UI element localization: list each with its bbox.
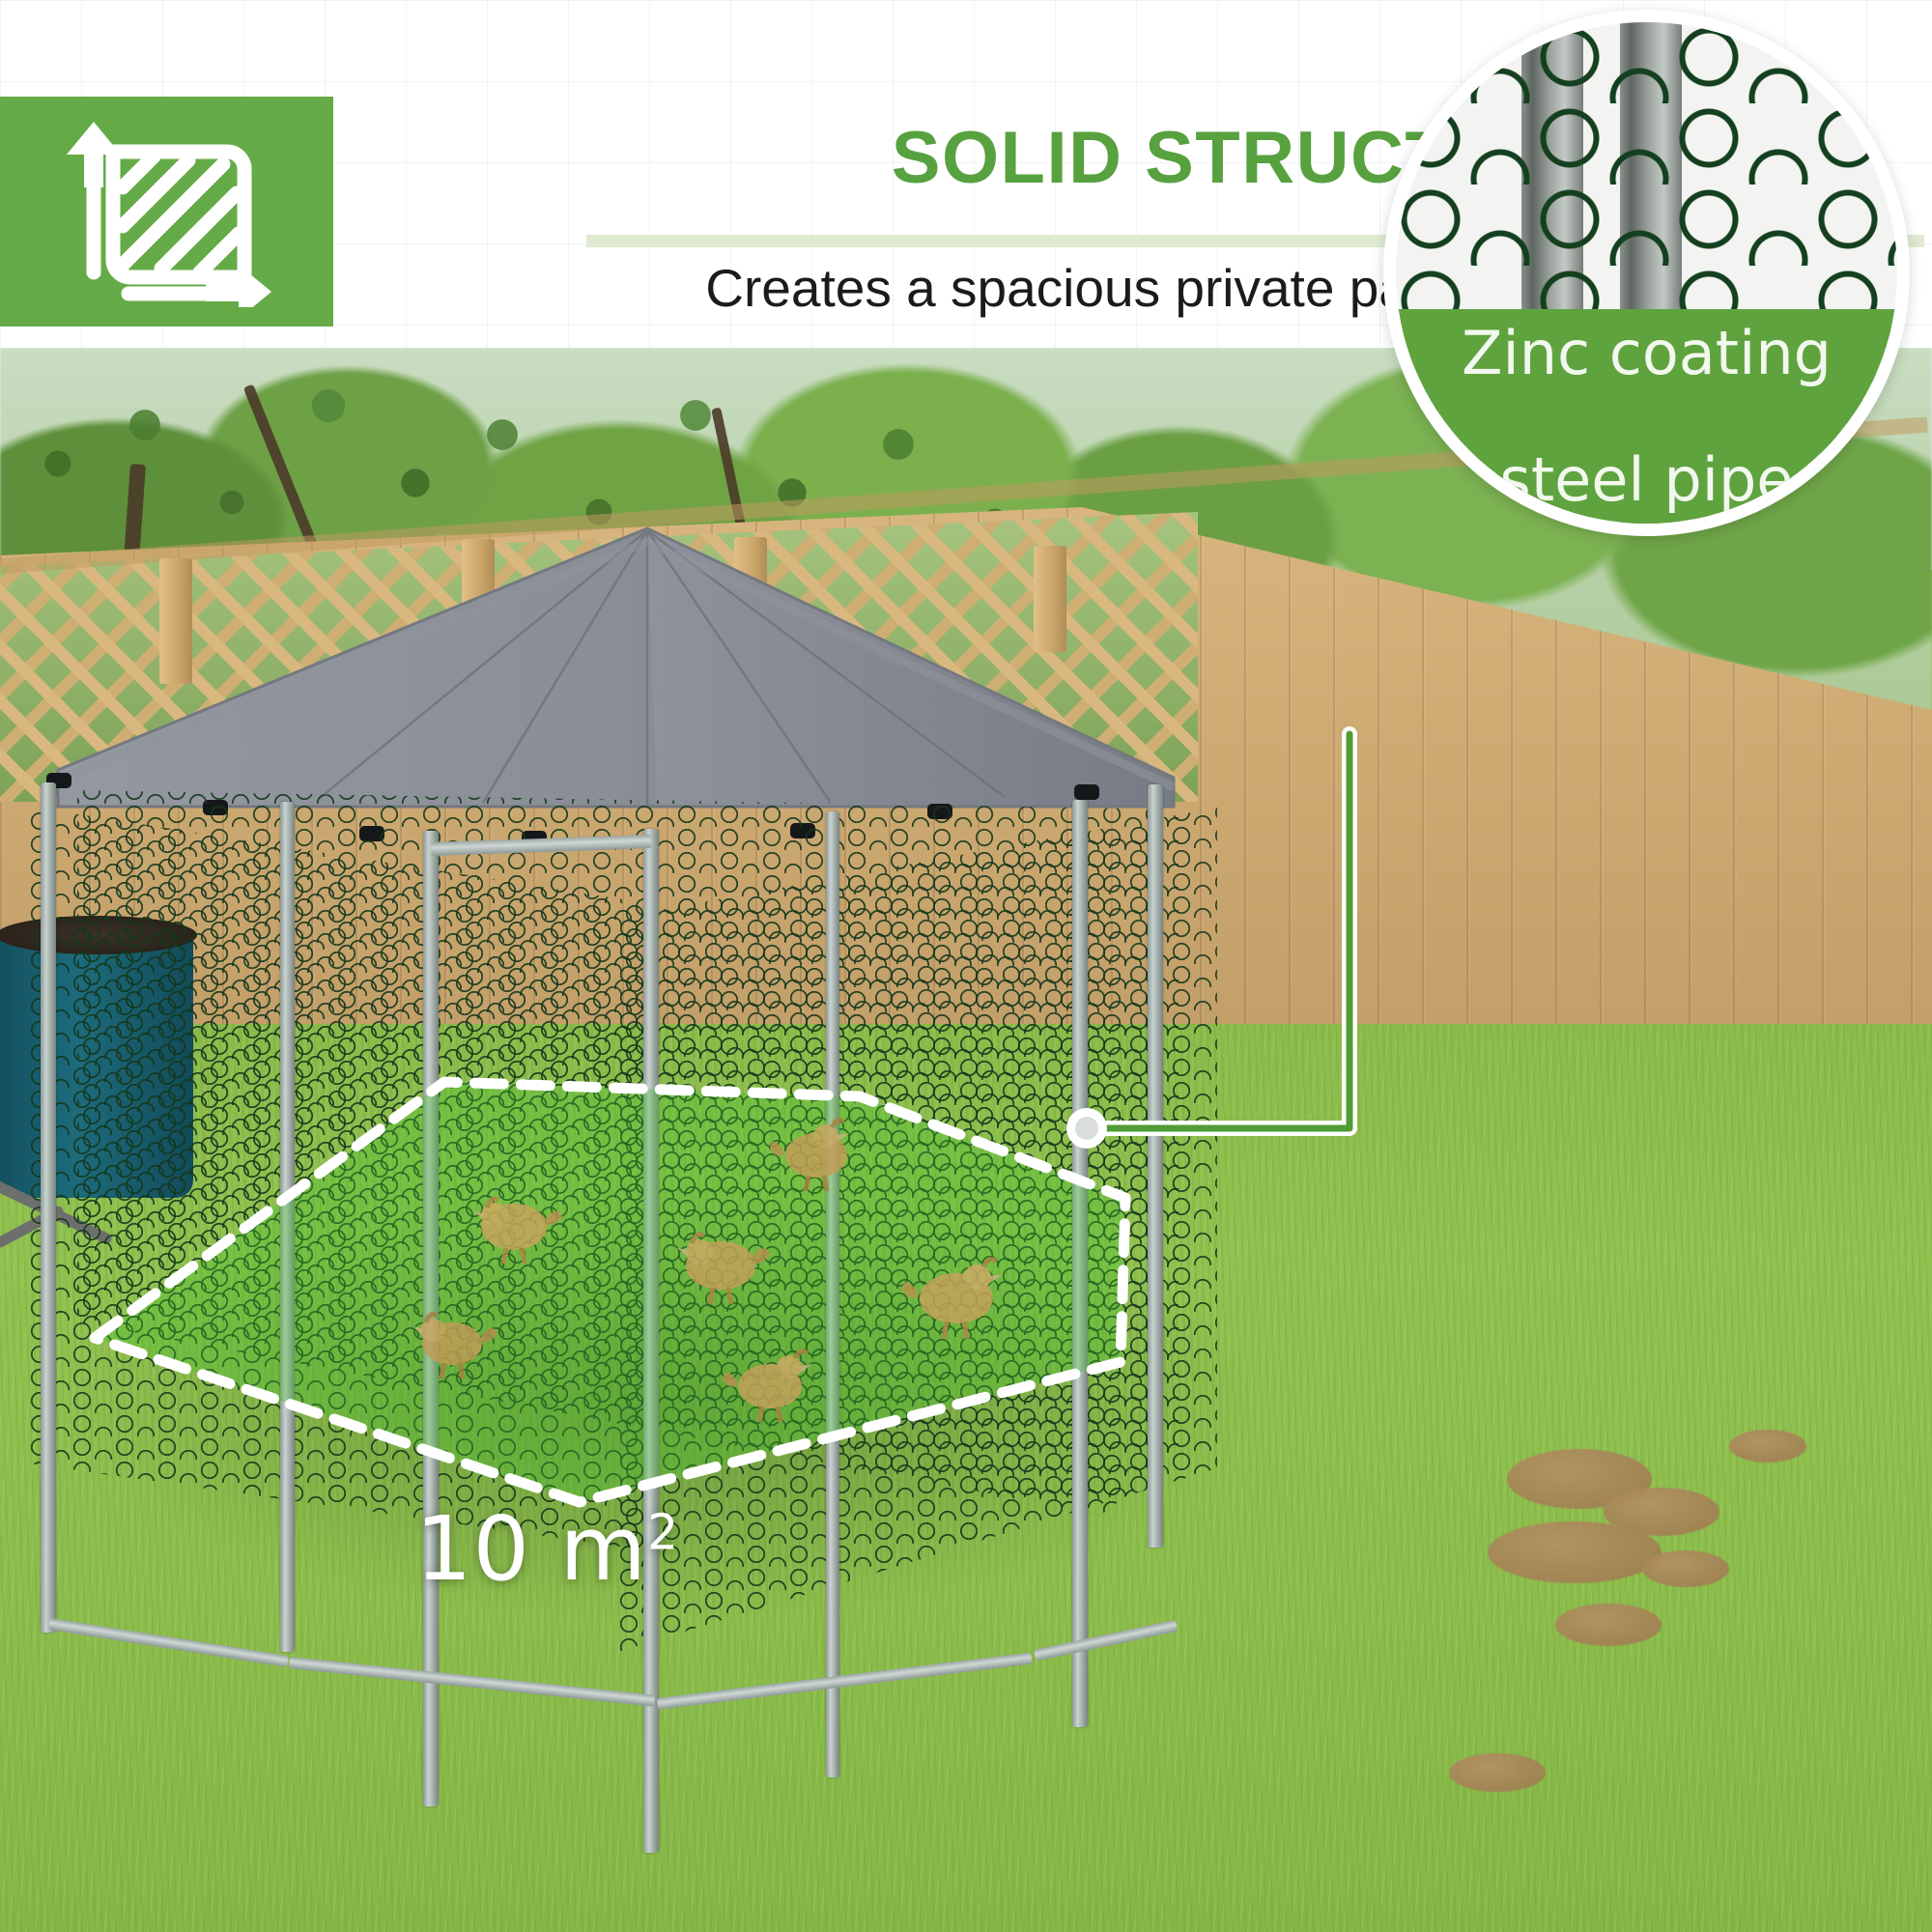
- callout-circle: Zinc coating steel pipe: [1383, 10, 1910, 536]
- frame-post: [1072, 800, 1088, 1727]
- chicken-coop: [0, 348, 1932, 1932]
- zinc-coating-callout: Zinc coating steel pipe: [1383, 10, 1910, 536]
- base-rail: [1034, 1620, 1178, 1662]
- chicken: [464, 1180, 565, 1272]
- base-rail: [657, 1652, 1033, 1709]
- canopy-clip: [1074, 784, 1099, 800]
- product-feature-banner: SOLID STRUCTURE Creates a spacious priva…: [0, 0, 1932, 1932]
- callout-caption-line1: Zinc coating: [1462, 322, 1832, 384]
- chicken: [898, 1246, 1012, 1347]
- area-unit: m: [559, 1497, 647, 1601]
- frame-post: [1148, 784, 1163, 1548]
- area-badge: 10 m2: [415, 1497, 679, 1601]
- product-photo-scene: 10 m2: [0, 348, 1932, 1932]
- area-expand-icon-tile: [0, 97, 333, 327]
- base-rail: [48, 1618, 289, 1667]
- callout-caption-line2: steel pipe: [1462, 448, 1832, 511]
- chicken: [667, 1217, 773, 1314]
- callout-caption-band: Zinc coating steel pipe: [1396, 309, 1897, 524]
- area-exponent: 2: [647, 1503, 679, 1560]
- chicken: [406, 1299, 498, 1386]
- frame-post: [826, 811, 839, 1777]
- chicken: [720, 1338, 818, 1429]
- canopy-roof: [29, 517, 1198, 826]
- frame-post: [280, 802, 295, 1652]
- chicken: [768, 1111, 865, 1200]
- area-value: 10: [415, 1497, 530, 1601]
- base-rail: [289, 1657, 655, 1707]
- frame-post: [41, 782, 56, 1633]
